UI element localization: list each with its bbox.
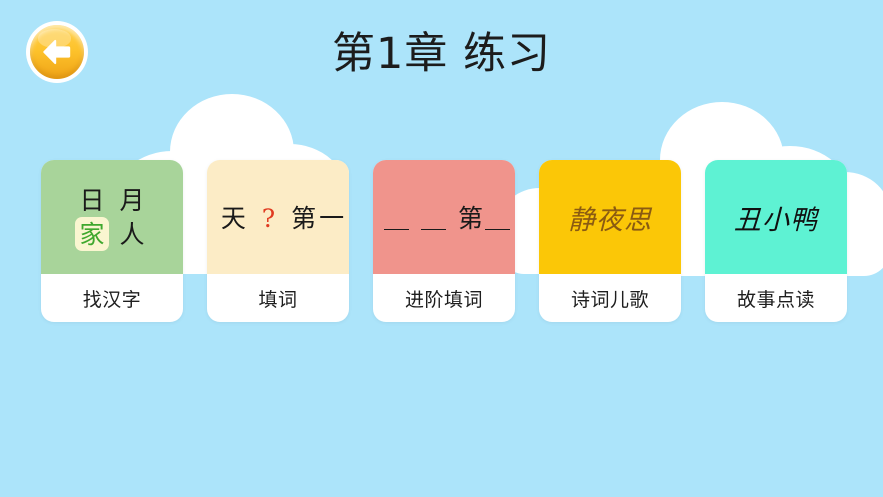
card-story-read[interactable]: 丑小鸭 故事点读 xyxy=(705,160,847,322)
card-label-advanced-fill-word: 进阶填词 xyxy=(373,274,515,322)
fill-word-part-3: 第一 xyxy=(280,204,347,233)
card-art-story-read: 丑小鸭 xyxy=(705,160,847,274)
card-art-advanced-fill-word: ＿ ＿ 第＿ xyxy=(373,160,515,274)
hanzi-cell-2: 月 xyxy=(115,183,149,217)
card-label-poems-songs: 诗词儿歌 xyxy=(539,274,681,322)
hanzi-cell-4: 人 xyxy=(115,217,149,251)
card-fill-word[interactable]: 天 ? 第一 填词 xyxy=(207,160,349,322)
card-label-fill-word: 填词 xyxy=(207,274,349,322)
fill-word-part-1: 天 xyxy=(221,204,260,233)
card-advanced-fill-word[interactable]: ＿ ＿ 第＿ 进阶填词 xyxy=(373,160,515,322)
story-title: 丑小鸭 xyxy=(734,198,818,237)
app-screen: 第1章 练习 日 月 家 人 找汉字 天 ? 第一 填词 xyxy=(0,0,883,497)
hanzi-cell-1: 日 xyxy=(75,183,109,217)
advanced-fill-word-prompt: ＿ ＿ 第＿ xyxy=(384,199,512,235)
fill-word-question-mark: ? xyxy=(260,204,280,233)
fill-word-prompt: 天 ? 第一 xyxy=(221,199,347,235)
card-label-story-read: 故事点读 xyxy=(705,274,847,322)
card-art-fill-word: 天 ? 第一 xyxy=(207,160,349,274)
exercise-card-row: 日 月 家 人 找汉字 天 ? 第一 填词 ＿ ＿ 第＿ 进阶填词 xyxy=(41,160,847,325)
card-poems-songs[interactable]: 静夜思 诗词儿歌 xyxy=(539,160,681,322)
page-title: 第1章 练习 xyxy=(0,26,883,82)
card-find-hanzi[interactable]: 日 月 家 人 找汉字 xyxy=(41,160,183,322)
hanzi-cell-3-highlighted: 家 xyxy=(75,217,109,251)
card-art-find-hanzi: 日 月 家 人 xyxy=(41,160,183,274)
card-art-poems-songs: 静夜思 xyxy=(539,160,681,274)
hanzi-grid: 日 月 家 人 xyxy=(75,183,149,251)
poem-title: 静夜思 xyxy=(568,198,652,237)
card-label-find-hanzi: 找汉字 xyxy=(41,274,183,322)
